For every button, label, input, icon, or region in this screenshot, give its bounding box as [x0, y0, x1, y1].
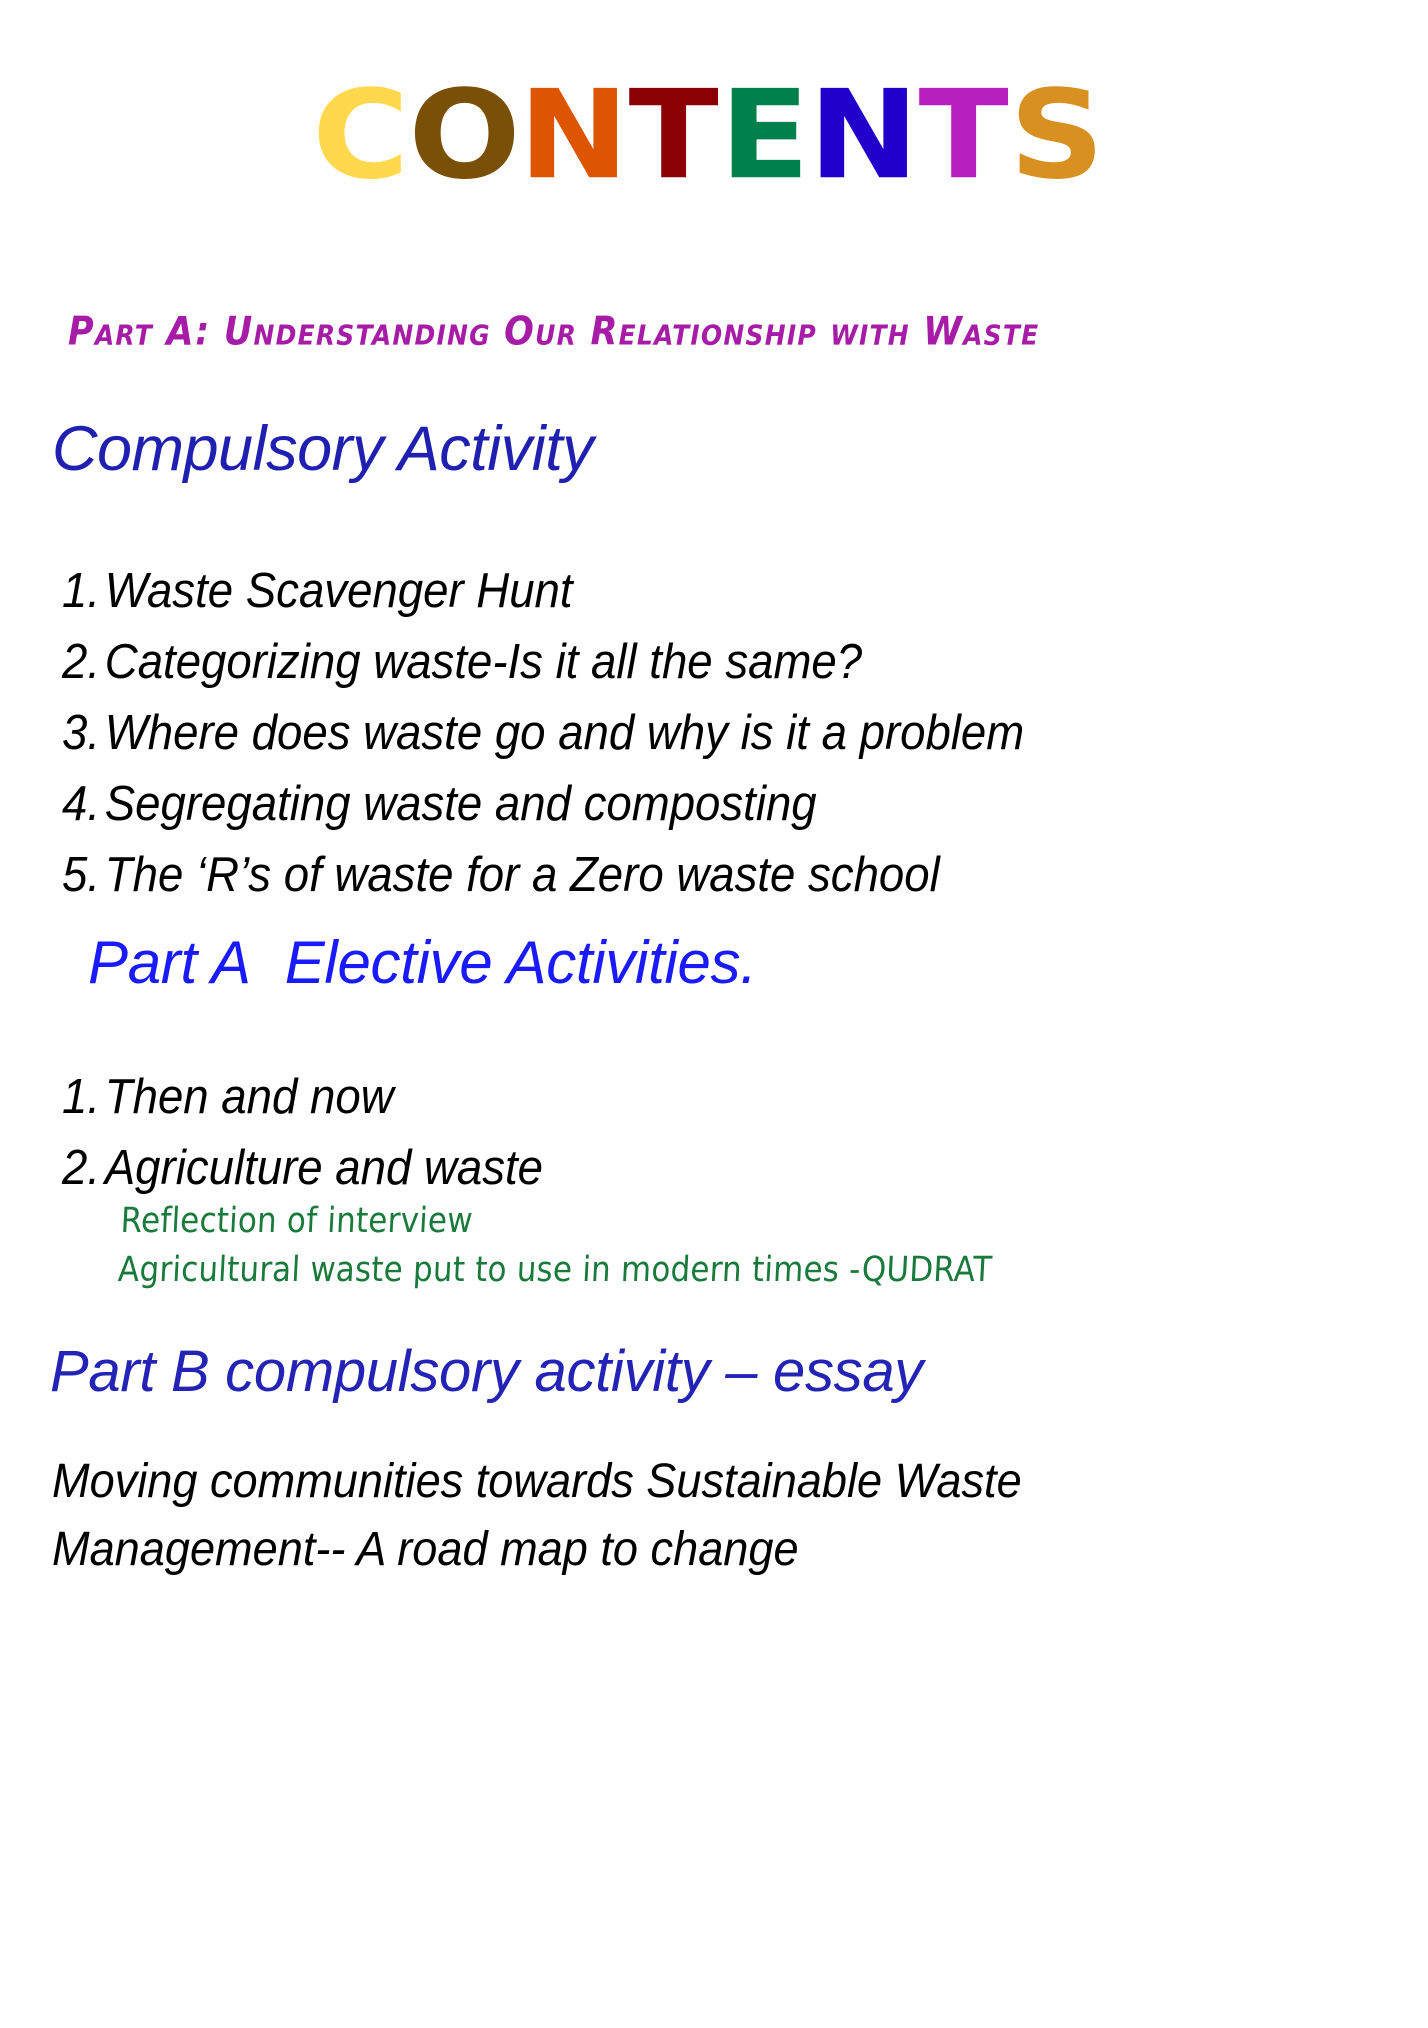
title-letter-e: E — [719, 73, 820, 196]
list-item-number: 5. — [62, 840, 105, 911]
page-title: CONTENTS — [0, 78, 1428, 196]
document-page: CONTENTS Part A: Understanding Our Relat… — [0, 0, 1428, 2028]
list-item: 5.The ‘R’s of waste for a Zero waste sch… — [62, 840, 1024, 911]
heading-part-b: Part B compulsory activity – essay — [50, 1338, 923, 1405]
title-letter-n1: N — [519, 73, 641, 196]
list-item: 2.Categorizing waste-Is it all the same? — [62, 627, 1024, 698]
heading-part-label: Part A — [88, 929, 251, 996]
heading-elective-label: Elective Activities. — [285, 929, 757, 996]
list-item: 3.Where does waste go and why is it a pr… — [62, 698, 1024, 769]
list-item-label: Categorizing waste-Is it all the same? — [105, 635, 862, 689]
list-item-number: 2. — [62, 1133, 105, 1204]
list-item-number: 1. — [62, 1062, 105, 1133]
list-item-label: Then and now — [105, 1070, 394, 1124]
list-item-number: 3. — [62, 698, 105, 769]
heading-compulsory-activity: Compulsory Activity — [52, 413, 593, 485]
list-item: 2.Agriculture and waste — [62, 1133, 543, 1204]
title-letter-t2: T — [919, 73, 1020, 196]
compulsory-activity-list: 1.Waste Scavenger Hunt 2.Categorizing wa… — [62, 556, 1097, 911]
list-item-number: 1. — [62, 556, 105, 627]
body-line: Management-- A road map to change — [52, 1516, 1022, 1584]
title-letter-n2: N — [809, 73, 931, 196]
list-item-label: Segregating waste and composting — [105, 777, 817, 831]
list-item-label: Agriculture and waste — [105, 1141, 543, 1195]
list-item: 1.Waste Scavenger Hunt — [62, 556, 1024, 627]
handwritten-annotations: Reflection of interview Agricultural was… — [117, 1196, 996, 1295]
annotation-line: Reflection of interview — [119, 1196, 995, 1245]
list-item-number: 2. — [62, 627, 105, 698]
heading-elective-activities: Part AElective Activities. — [88, 928, 757, 997]
list-item-label: Where does waste go and why is it a prob… — [105, 706, 1024, 760]
part-b-body-text: Moving communities towards Sustainable W… — [52, 1448, 1022, 1584]
title-letter-c: C — [313, 73, 421, 196]
list-item-label: The ‘R’s of waste for a Zero waste schoo… — [105, 848, 940, 902]
title-letter-s: S — [1009, 73, 1115, 196]
body-line: Moving communities towards Sustainable W… — [52, 1448, 1022, 1516]
elective-activity-list: 1.Then and now 2.Agriculture and waste — [62, 1062, 579, 1204]
part-a-subtitle: Part A: Understanding Our Relationship w… — [68, 310, 1368, 355]
list-item: 4.Segregating waste and composting — [62, 769, 1024, 840]
title-letter-o: O — [408, 73, 532, 196]
list-item-label: Waste Scavenger Hunt — [105, 564, 573, 618]
list-item: 1.Then and now — [62, 1062, 543, 1133]
annotation-line: Agricultural waste put to use in modern … — [117, 1245, 993, 1294]
list-item-number: 4. — [62, 769, 105, 840]
title-letter-t1: T — [629, 73, 730, 196]
